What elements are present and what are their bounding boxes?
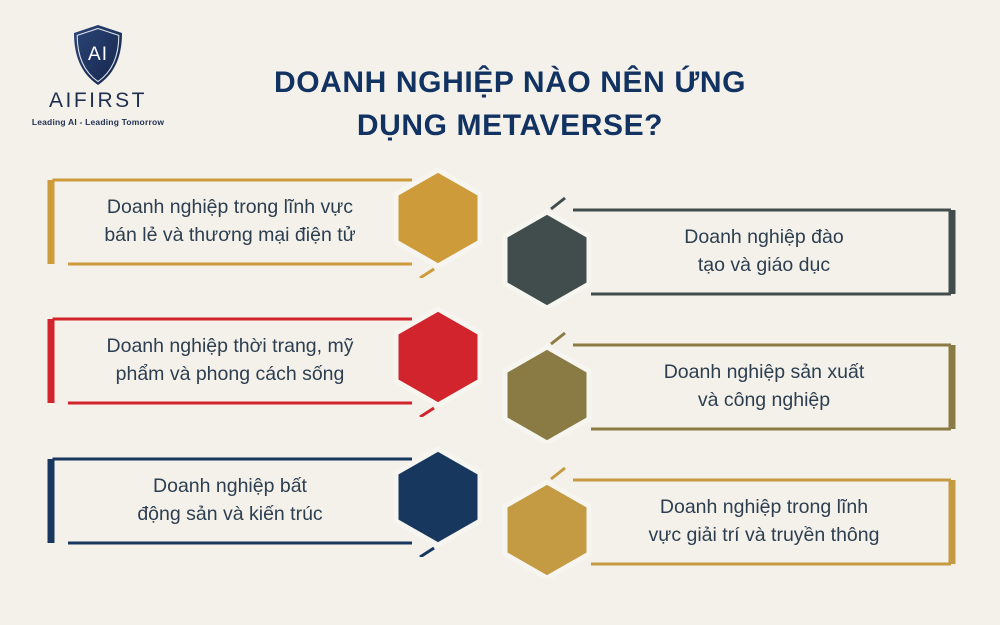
item-label: Doanh nghiệp trong lĩnh vực giải trí và … [573, 478, 955, 566]
item-label-line-1: Doanh nghiệp đào [684, 224, 843, 252]
item-hexagon [390, 445, 486, 557]
item-label-line-2: vực giải trí và truyền thông [649, 522, 880, 550]
item-fashion-cosmetics-lifestyle[interactable]: Doanh nghiệp thời trang, mỹ phẩm và phon… [48, 305, 480, 415]
item-box: Doanh nghiệp trong lĩnh vực bán lẻ và th… [48, 178, 412, 266]
item-label-line-2: tạo và giáo dục [684, 252, 843, 280]
item-label-line-2: bán lẻ và thương mại điện tử [104, 222, 355, 250]
item-label-line-1: Doanh nghiệp trong lĩnh [649, 494, 880, 522]
item-hexagon [499, 196, 595, 308]
svg-text:AI: AI [88, 44, 108, 65]
page-title: DOANH NGHIỆP NÀO NÊN ỨNG DỤNG METAVERSE? [200, 62, 820, 147]
item-label: Doanh nghiệp sản xuất và công nghiệp [573, 343, 955, 431]
item-box: Doanh nghiệp sản xuất và công nghiệp [573, 343, 955, 431]
item-label: Doanh nghiệp đào tạo và giáo dục [573, 208, 955, 296]
shield-ai-icon: AI [71, 24, 125, 86]
item-hexagon [499, 466, 595, 578]
item-manufacturing-industry[interactable]: Doanh nghiệp sản xuất và công nghiệp [505, 331, 955, 441]
item-box: Doanh nghiệp bất động sản và kiến trúc [48, 457, 412, 545]
item-entertainment-media[interactable]: Doanh nghiệp trong lĩnh vực giải trí và … [505, 466, 955, 576]
item-retail-ecommerce[interactable]: Doanh nghiệp trong lĩnh vực bán lẻ và th… [48, 166, 480, 276]
item-real-estate-architecture[interactable]: Doanh nghiệp bất động sản và kiến trúc [48, 445, 480, 555]
item-hexagon [390, 305, 486, 417]
page-title-line-1: DOANH NGHIỆP NÀO NÊN ỨNG [200, 62, 820, 105]
item-hexagon [499, 331, 595, 443]
page-title-line-2: DỤNG METAVERSE? [200, 105, 820, 148]
item-label-line-2: và công nghiệp [664, 387, 865, 415]
item-box: Doanh nghiệp trong lĩnh vực giải trí và … [573, 478, 955, 566]
item-label: Doanh nghiệp trong lĩnh vực bán lẻ và th… [48, 178, 412, 266]
brand-logo: AI AIFIRST Leading AI - Leading Tomorrow [28, 24, 168, 127]
item-box: Doanh nghiệp thời trang, mỹ phẩm và phon… [48, 317, 412, 405]
item-label-line-2: động sản và kiến trúc [137, 501, 322, 529]
item-label: Doanh nghiệp thời trang, mỹ phẩm và phon… [48, 317, 412, 405]
item-label: Doanh nghiệp bất động sản và kiến trúc [48, 457, 412, 545]
item-label-line-2: phẩm và phong cách sống [107, 361, 354, 389]
item-hexagon [390, 166, 486, 278]
item-label-line-1: Doanh nghiệp sản xuất [664, 359, 865, 387]
brand-wordmark: AIFIRST [28, 89, 168, 113]
item-label-line-1: Doanh nghiệp trong lĩnh vực [104, 194, 355, 222]
item-label-line-1: Doanh nghiệp bất [137, 473, 322, 501]
item-box: Doanh nghiệp đào tạo và giáo dục [573, 208, 955, 296]
brand-tagline: Leading AI - Leading Tomorrow [28, 117, 168, 127]
item-label-line-1: Doanh nghiệp thời trang, mỹ [107, 333, 354, 361]
item-training-education[interactable]: Doanh nghiệp đào tạo và giáo dục [505, 196, 955, 306]
